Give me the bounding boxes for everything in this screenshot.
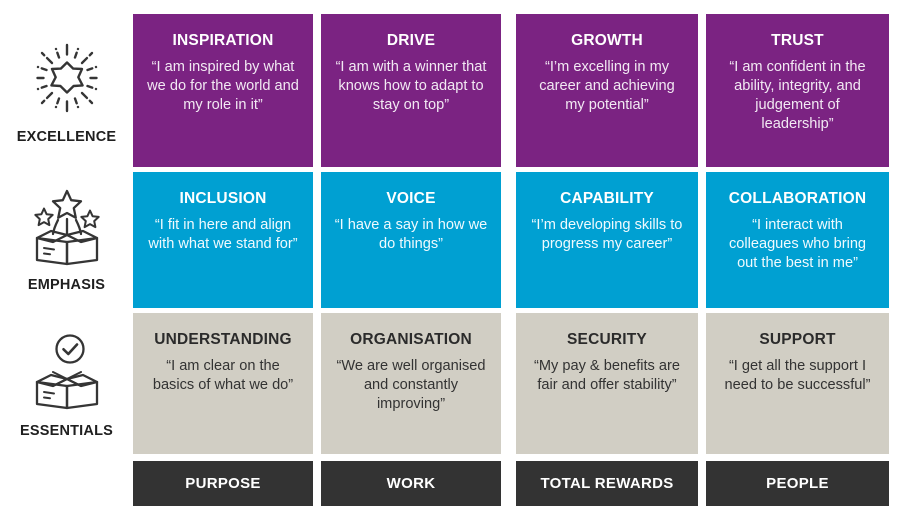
cell-quote: “I get all the support I need to be succ… xyxy=(719,357,875,395)
cell-quote: “We are well organised and constantly im… xyxy=(334,357,488,414)
rail-label-excellence: EXCELLENCE xyxy=(17,129,117,145)
cell-title: CAPABILITY xyxy=(560,190,654,207)
box-with-stars-icon xyxy=(23,186,111,268)
cell-title: SUPPORT xyxy=(759,331,835,348)
cell-quote: “I am clear on the basics of what we do” xyxy=(146,357,300,395)
cell-title: TRUST xyxy=(771,32,824,49)
matrix-cell-voice[interactable]: VOICE “I have a say in how we do things” xyxy=(321,172,501,308)
footer-pillar-people[interactable]: PEOPLE xyxy=(706,461,889,506)
cell-quote: “I am inspired by what we do for the wor… xyxy=(146,58,300,115)
cell-title: DRIVE xyxy=(387,32,435,49)
cell-title: ORGANISATION xyxy=(350,331,472,348)
box-with-check-icon xyxy=(23,332,111,414)
cell-quote: “I have a say in how we do things” xyxy=(334,216,488,254)
rail-label-emphasis: EMPHASIS xyxy=(28,277,105,293)
rail-item-excellence: EXCELLENCE xyxy=(0,14,133,167)
star-burst-icon xyxy=(25,36,109,120)
cell-quote: “I am confident in the ability, integrit… xyxy=(719,58,875,134)
cell-quote: “I am with a winner that knows how to ad… xyxy=(334,58,488,115)
cell-quote: “I’m developing skills to progress my ca… xyxy=(529,216,685,254)
footer-pillar-purpose[interactable]: PURPOSE xyxy=(133,461,313,506)
matrix-cell-collaboration[interactable]: COLLABORATION “I interact with colleague… xyxy=(706,172,889,308)
matrix-cell-support[interactable]: SUPPORT “I get all the support I need to… xyxy=(706,313,889,454)
matrix-cell-inspiration[interactable]: INSPIRATION “I am inspired by what we do… xyxy=(133,14,313,167)
cell-title: INSPIRATION xyxy=(173,32,274,49)
cell-title: GROWTH xyxy=(571,32,643,49)
rail-item-essentials: ESSENTIALS xyxy=(0,315,133,455)
matrix-cell-trust[interactable]: TRUST “I am confident in the ability, in… xyxy=(706,14,889,167)
matrix-cell-growth[interactable]: GROWTH “I’m excelling in my career and a… xyxy=(516,14,698,167)
cell-quote: “I interact with colleagues who bring ou… xyxy=(719,216,875,273)
rail-item-emphasis: EMPHASIS xyxy=(0,168,133,310)
cell-quote: “I’m excelling in my career and achievin… xyxy=(529,58,685,115)
cell-title: COLLABORATION xyxy=(729,190,867,207)
cell-quote: “My pay & benefits are fair and offer st… xyxy=(529,357,685,395)
cell-title: INCLUSION xyxy=(179,190,266,207)
cell-title: SECURITY xyxy=(567,331,647,348)
cell-title: UNDERSTANDING xyxy=(154,331,292,348)
matrix-cell-organisation[interactable]: ORGANISATION “We are well organised and … xyxy=(321,313,501,454)
matrix-cell-drive[interactable]: DRIVE “I am with a winner that knows how… xyxy=(321,14,501,167)
matrix-cell-understanding[interactable]: UNDERSTANDING “I am clear on the basics … xyxy=(133,313,313,454)
footer-pillar-work[interactable]: WORK xyxy=(321,461,501,506)
matrix-cell-security[interactable]: SECURITY “My pay & benefits are fair and… xyxy=(516,313,698,454)
matrix-cell-capability[interactable]: CAPABILITY “I’m developing skills to pro… xyxy=(516,172,698,308)
cell-quote: “I fit in here and align with what we st… xyxy=(146,216,300,254)
employee-experience-matrix: EXCELLENCE xyxy=(0,0,900,523)
footer-pillar-total-rewards[interactable]: TOTAL REWARDS xyxy=(516,461,698,506)
rail-label-essentials: ESSENTIALS xyxy=(20,423,113,439)
cell-title: VOICE xyxy=(386,190,435,207)
matrix-cell-inclusion[interactable]: INCLUSION “I fit in here and align with … xyxy=(133,172,313,308)
